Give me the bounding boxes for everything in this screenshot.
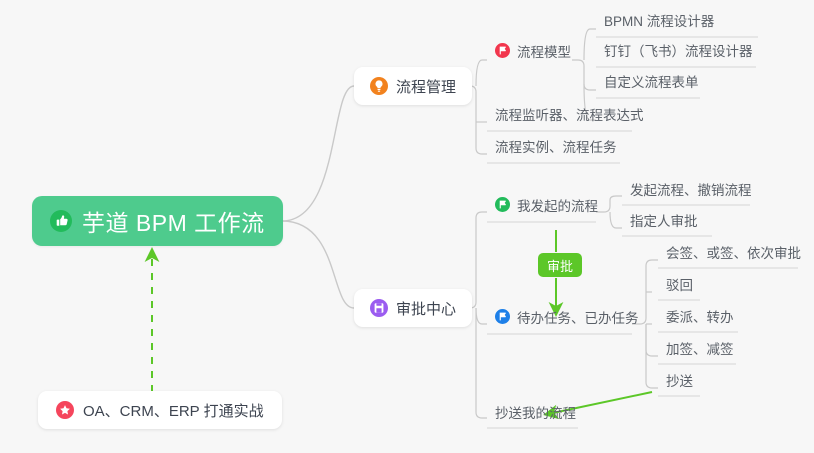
node-my-initiated[interactable]: 我发起的流程 [489,197,605,223]
star-icon [56,401,74,419]
node-bpmn-designer[interactable]: BPMN 流程设计器 [598,12,721,38]
connector-root-to-process-management [282,86,354,221]
node-label-cc: 抄送 [666,372,693,392]
node-delegate-transfer[interactable]: 委派、转办 [660,308,741,334]
thumbs-up-icon [50,210,72,232]
node-label-process-listener: 流程监听器、流程表达式 [495,106,644,126]
lightbulb-icon [370,77,388,95]
node-process-model[interactable]: 流程模型 [489,43,578,69]
connector-ac-to-ccme [476,308,487,418]
flag-icon [495,43,510,58]
branch-label-approval-center: 审批中心 [396,298,456,319]
node-label-delegate-transfer: 委派、转办 [666,308,734,328]
branch-label-process-management: 流程管理 [396,76,456,97]
mindmap-canvas: 芋道 BPM 工作流 流程管理 流程模型 BPMN 流程设计器 钉钉（飞书）流程… [0,0,814,453]
clipboard-icon [370,299,388,317]
floating-node-integration-label: OA、CRM、ERP 打通实战 [83,400,264,421]
node-start-cancel-process[interactable]: 发起流程、撤销流程 [624,181,759,207]
node-custom-process-form[interactable]: 自定义流程表单 [598,73,706,99]
node-todo-done-tasks[interactable]: 待办任务、已办任务 [489,309,646,335]
node-label-assignee-approval: 指定人审批 [630,212,698,232]
branch-node-approval-center[interactable]: 审批中心 [354,289,472,327]
node-label-reject: 驳回 [666,276,693,296]
flag-icon [495,309,510,324]
branch-node-process-management[interactable]: 流程管理 [354,67,472,105]
node-label-my-initiated: 我发起的流程 [517,197,598,217]
node-process-instance[interactable]: 流程实例、流程任务 [489,138,624,164]
flag-icon [495,197,510,212]
node-process-listener[interactable]: 流程监听器、流程表达式 [489,106,651,132]
connector-todo-to-addsign [646,324,658,356]
node-label-add-remove-sign: 加签、减签 [666,340,734,360]
root-node[interactable]: 芋道 BPM 工作流 [32,196,283,246]
node-label-process-model: 流程模型 [517,43,571,63]
annotation-tag-approval: 审批 [538,253,582,277]
connector-ac-to-todo [476,308,487,324]
node-label-countersign: 会签、或签、依次审批 [666,244,801,264]
node-assignee-approval[interactable]: 指定人审批 [624,212,705,238]
connector-model-to-bpmn [584,29,596,60]
root-node-label: 芋道 BPM 工作流 [82,204,265,238]
node-label-process-instance: 流程实例、流程任务 [495,138,617,158]
floating-node-integration[interactable]: OA、CRM、ERP 打通实战 [38,391,282,429]
node-label-start-cancel-process: 发起流程、撤销流程 [630,181,752,201]
node-countersign[interactable]: 会签、或签、依次审批 [660,244,808,270]
node-dingtalk-feishu-designer[interactable]: 钉钉（飞书）流程设计器 [598,42,760,68]
node-label-cc-to-me: 抄送我的流程 [495,404,576,424]
node-label-todo-done-tasks: 待办任务、已办任务 [517,309,639,329]
annotation-tag-approval-label: 审批 [547,256,573,275]
connector-root-to-approval-center [282,221,354,308]
node-cc-to-me[interactable]: 抄送我的流程 [489,404,583,430]
node-add-remove-sign[interactable]: 加签、减签 [660,340,741,366]
node-reject[interactable]: 驳回 [660,276,700,302]
connector-init-to-assignee [610,212,622,228]
connector-pm-to-model [476,60,487,86]
node-label-bpmn-designer: BPMN 流程设计器 [604,12,714,32]
node-label-dingtalk-feishu-designer: 钉钉（飞书）流程设计器 [604,42,753,62]
node-cc[interactable]: 抄送 [660,372,700,398]
connector-todo-to-cc [646,324,658,388]
node-label-custom-process-form: 自定义流程表单 [604,73,699,93]
